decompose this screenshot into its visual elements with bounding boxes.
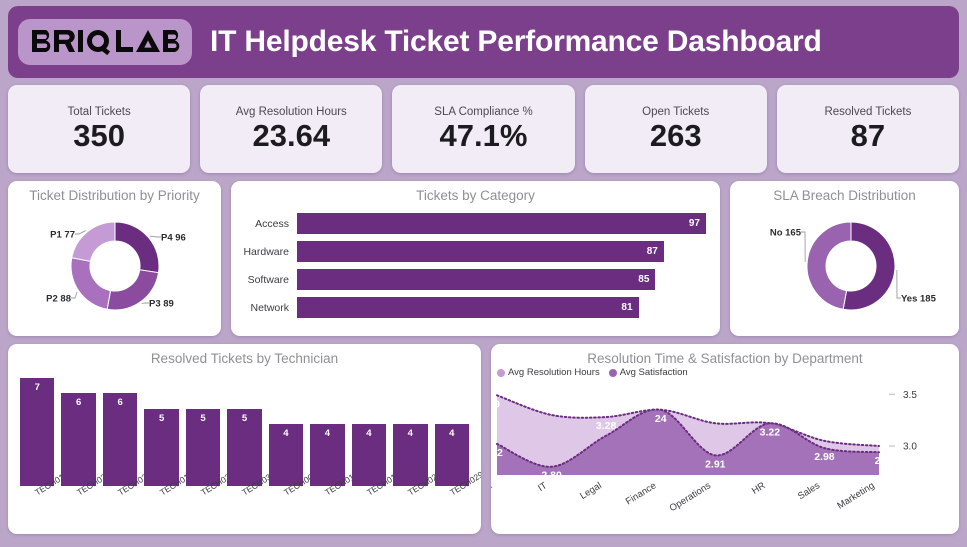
sla-donut-svg: Yes 185No 165 — [739, 206, 951, 330]
chart-title: SLA Breach Distribution — [730, 181, 959, 203]
category-bar-row[interactable]: Network81 — [241, 297, 706, 318]
combo-x-axis-label: Sales — [796, 480, 822, 502]
technician-bar-column[interactable]: 5TECH022 — [186, 374, 220, 530]
kpi-card-resolved-tickets[interactable]: Resolved Tickets 87 — [777, 85, 959, 173]
legend-label: Avg Satisfaction — [620, 367, 688, 378]
donut-slice[interactable] — [115, 222, 159, 273]
technician-bar-column[interactable]: 4TECH019 — [352, 374, 386, 530]
combo-data-label: 24 — [655, 413, 667, 425]
combo-data-label: 2.98 — [814, 451, 835, 463]
technician-bar-column[interactable]: 4TECH007 — [269, 374, 303, 530]
technician-bar[interactable]: 4 — [269, 424, 303, 486]
technician-bar-column[interactable]: 7TECH012 — [20, 374, 54, 530]
technician-bar-value: 7 — [35, 382, 40, 393]
category-bar-row[interactable]: Software85 — [241, 269, 706, 290]
combo-data-label: 2.91 — [705, 458, 726, 470]
category-axis-label: Access — [241, 218, 297, 230]
combo-data-label: 3.22 — [760, 426, 781, 438]
donut-slice[interactable] — [807, 222, 851, 309]
technician-bar-column[interactable]: 5TECH030 — [227, 374, 261, 530]
technician-bar[interactable]: 4 — [352, 424, 386, 486]
legend-item-avg-satisfaction[interactable]: Avg Satisfaction — [609, 367, 688, 378]
charts-row-bottom: Resolved Tickets by Technician 7TECH0126… — [8, 344, 959, 534]
kpi-row: Total Tickets 350 Avg Resolution Hours 2… — [8, 85, 959, 173]
donut-leader-line — [75, 230, 86, 233]
donut-leader-line — [801, 232, 805, 262]
technician-bar-column[interactable]: 5TECH017 — [144, 374, 178, 530]
chart-card-sla-breach[interactable]: SLA Breach Distribution Yes 185No 165 — [730, 181, 959, 336]
technician-bar-value: 6 — [117, 397, 122, 408]
kpi-card-sla-compliance[interactable]: SLA Compliance % 47.1% — [392, 85, 574, 173]
category-bar-row[interactable]: Hardware87 — [241, 241, 706, 262]
combo-plot-area: 93.2824022.802.913.222.982.3.53.0Enginee… — [491, 378, 959, 523]
category-bar-fill[interactable]: 87 — [297, 241, 664, 262]
combo-data-label: 3.28 — [596, 420, 617, 432]
combo-data-label: 9 — [494, 398, 500, 410]
sla-donut-chart: Yes 185No 165 — [730, 203, 959, 332]
dashboard-header: IT Helpdesk Ticket Performance Dashboard — [8, 6, 959, 78]
donut-data-label: Yes 185 — [901, 293, 937, 304]
category-axis-label: Network — [241, 302, 297, 314]
category-bar-fill[interactable]: 85 — [297, 269, 655, 290]
combo-data-label: 2. — [875, 455, 884, 467]
technician-bar[interactable]: 6 — [61, 393, 95, 486]
combo-data-label: 2.80 — [541, 470, 562, 482]
combo-y-tick-label: 3.5 — [903, 390, 917, 401]
category-bar-track: 97 — [297, 213, 706, 234]
technician-bar-column[interactable]: 4TECH013 — [310, 374, 344, 530]
donut-leader-line — [71, 292, 77, 298]
kpi-value: 47.1% — [440, 120, 528, 153]
category-bar-value: 85 — [638, 274, 649, 285]
combo-x-axis-label: Marketing — [835, 480, 876, 511]
donut-leader-line — [149, 236, 160, 237]
technician-bar-value: 5 — [200, 413, 205, 424]
donut-slice[interactable] — [71, 222, 114, 261]
technician-bar-column[interactable]: 6TECH021 — [103, 374, 137, 530]
combo-x-axis-label: Operations — [668, 480, 713, 514]
category-bar-value: 81 — [621, 302, 632, 313]
category-bar-track: 81 — [297, 297, 706, 318]
combo-x-axis-label: Legal — [578, 480, 604, 502]
category-axis-label: Hardware — [241, 246, 297, 258]
combo-legend: Avg Resolution Hours Avg Satisfaction — [491, 366, 959, 378]
technician-bar-column[interactable]: 6TECH020 — [61, 374, 95, 530]
kpi-value: 87 — [851, 120, 885, 153]
kpi-card-avg-resolution-hours[interactable]: Avg Resolution Hours 23.64 — [200, 85, 382, 173]
kpi-label: Resolved Tickets — [824, 106, 911, 118]
category-bar-row[interactable]: Access97 — [241, 213, 706, 234]
category-bar-chart: Access97Hardware87Software85Network81 — [231, 203, 720, 330]
technician-bar-value: 4 — [408, 428, 413, 439]
chart-title: Resolution Time & Satisfaction by Depart… — [491, 344, 959, 366]
priority-donut-svg: P4 96P3 89P2 88P1 77 — [17, 206, 213, 330]
technician-bar-column[interactable]: 4TECH024 — [393, 374, 427, 530]
technician-bar-chart: 7TECH0126TECH0206TECH0215TECH0175TECH022… — [8, 366, 481, 530]
briqlab-logo-icon — [30, 27, 180, 57]
technician-bar[interactable]: 4 — [435, 424, 469, 486]
category-bar-track: 85 — [297, 269, 706, 290]
combo-x-axis-label: IT — [536, 480, 549, 494]
technician-bar-value: 5 — [159, 413, 164, 424]
chart-title: Ticket Distribution by Priority — [8, 181, 221, 203]
legend-item-avg-resolution-hours[interactable]: Avg Resolution Hours — [497, 367, 600, 378]
chart-card-tickets-by-category[interactable]: Tickets by Category Access97Hardware87So… — [231, 181, 720, 336]
category-bar-track: 87 — [297, 241, 706, 262]
kpi-label: Avg Resolution Hours — [236, 106, 347, 118]
technician-bar[interactable]: 5 — [186, 409, 220, 486]
charts-row-middle: Ticket Distribution by Priority P4 96P3 … — [8, 181, 959, 336]
category-bar-value: 97 — [689, 218, 700, 229]
donut-data-label: P2 88 — [46, 293, 71, 304]
donut-data-label: No 165 — [769, 227, 801, 238]
donut-data-label: P1 77 — [50, 229, 75, 240]
kpi-card-total-tickets[interactable]: Total Tickets 350 — [8, 85, 190, 173]
combo-chart-body: Avg Resolution Hours Avg Satisfaction 93… — [491, 366, 959, 530]
kpi-label: Open Tickets — [642, 106, 709, 118]
legend-color-dot — [609, 369, 617, 377]
category-bar-fill[interactable]: 97 — [297, 213, 706, 234]
technician-bar[interactable]: 4 — [310, 424, 344, 486]
chart-card-resolution-satisfaction[interactable]: Resolution Time & Satisfaction by Depart… — [491, 344, 959, 534]
chart-card-priority-distribution[interactable]: Ticket Distribution by Priority P4 96P3 … — [8, 181, 221, 336]
combo-x-axis-label: HR — [750, 480, 768, 497]
donut-data-label: P3 89 — [149, 298, 174, 309]
donut-data-label: P4 96 — [161, 232, 186, 243]
kpi-value: 23.64 — [253, 120, 331, 153]
technician-bar[interactable]: 5 — [227, 409, 261, 486]
category-bar-fill[interactable]: 81 — [297, 297, 639, 318]
combo-y-tick-label: 3.0 — [903, 442, 917, 453]
technician-bar[interactable]: 5 — [144, 409, 178, 486]
technician-bar[interactable]: 4 — [393, 424, 427, 486]
category-bar-value: 87 — [647, 246, 658, 257]
dashboard-root: IT Helpdesk Ticket Performance Dashboard… — [0, 0, 967, 547]
combo-data-label: 02 — [491, 447, 503, 459]
technician-bar-value: 4 — [366, 428, 371, 439]
legend-color-dot — [497, 369, 505, 377]
technician-bar[interactable]: 7 — [20, 378, 54, 486]
combo-x-axis-label: Engineeri... — [491, 480, 495, 515]
technician-bar-value: 4 — [283, 428, 288, 439]
technician-bar-value: 6 — [76, 397, 81, 408]
kpi-value: 263 — [650, 120, 702, 153]
combo-area-svg: 93.2824022.802.913.222.982.3.53.0Enginee… — [491, 378, 951, 523]
briqlab-logo — [18, 19, 192, 65]
donut-slice[interactable] — [71, 257, 111, 309]
technician-bar[interactable]: 6 — [103, 393, 137, 486]
technician-bar-value: 4 — [325, 428, 330, 439]
chart-card-resolved-by-technician[interactable]: Resolved Tickets by Technician 7TECH0126… — [8, 344, 481, 534]
legend-label: Avg Resolution Hours — [508, 367, 600, 378]
priority-donut-chart: P4 96P3 89P2 88P1 77 — [8, 203, 221, 332]
kpi-label: Total Tickets — [67, 106, 130, 118]
technician-bar-column[interactable]: 4TECH029 — [435, 374, 469, 530]
technician-bar-value: 5 — [242, 413, 247, 424]
chart-title: Resolved Tickets by Technician — [8, 344, 481, 366]
page-title: IT Helpdesk Ticket Performance Dashboard — [210, 25, 822, 59]
kpi-label: SLA Compliance % — [434, 106, 532, 118]
chart-title: Tickets by Category — [231, 181, 720, 203]
kpi-value: 350 — [73, 120, 125, 153]
combo-x-axis-label: Finance — [624, 480, 659, 507]
category-axis-label: Software — [241, 274, 297, 286]
kpi-card-open-tickets[interactable]: Open Tickets 263 — [585, 85, 767, 173]
technician-bar-value: 4 — [449, 428, 454, 439]
